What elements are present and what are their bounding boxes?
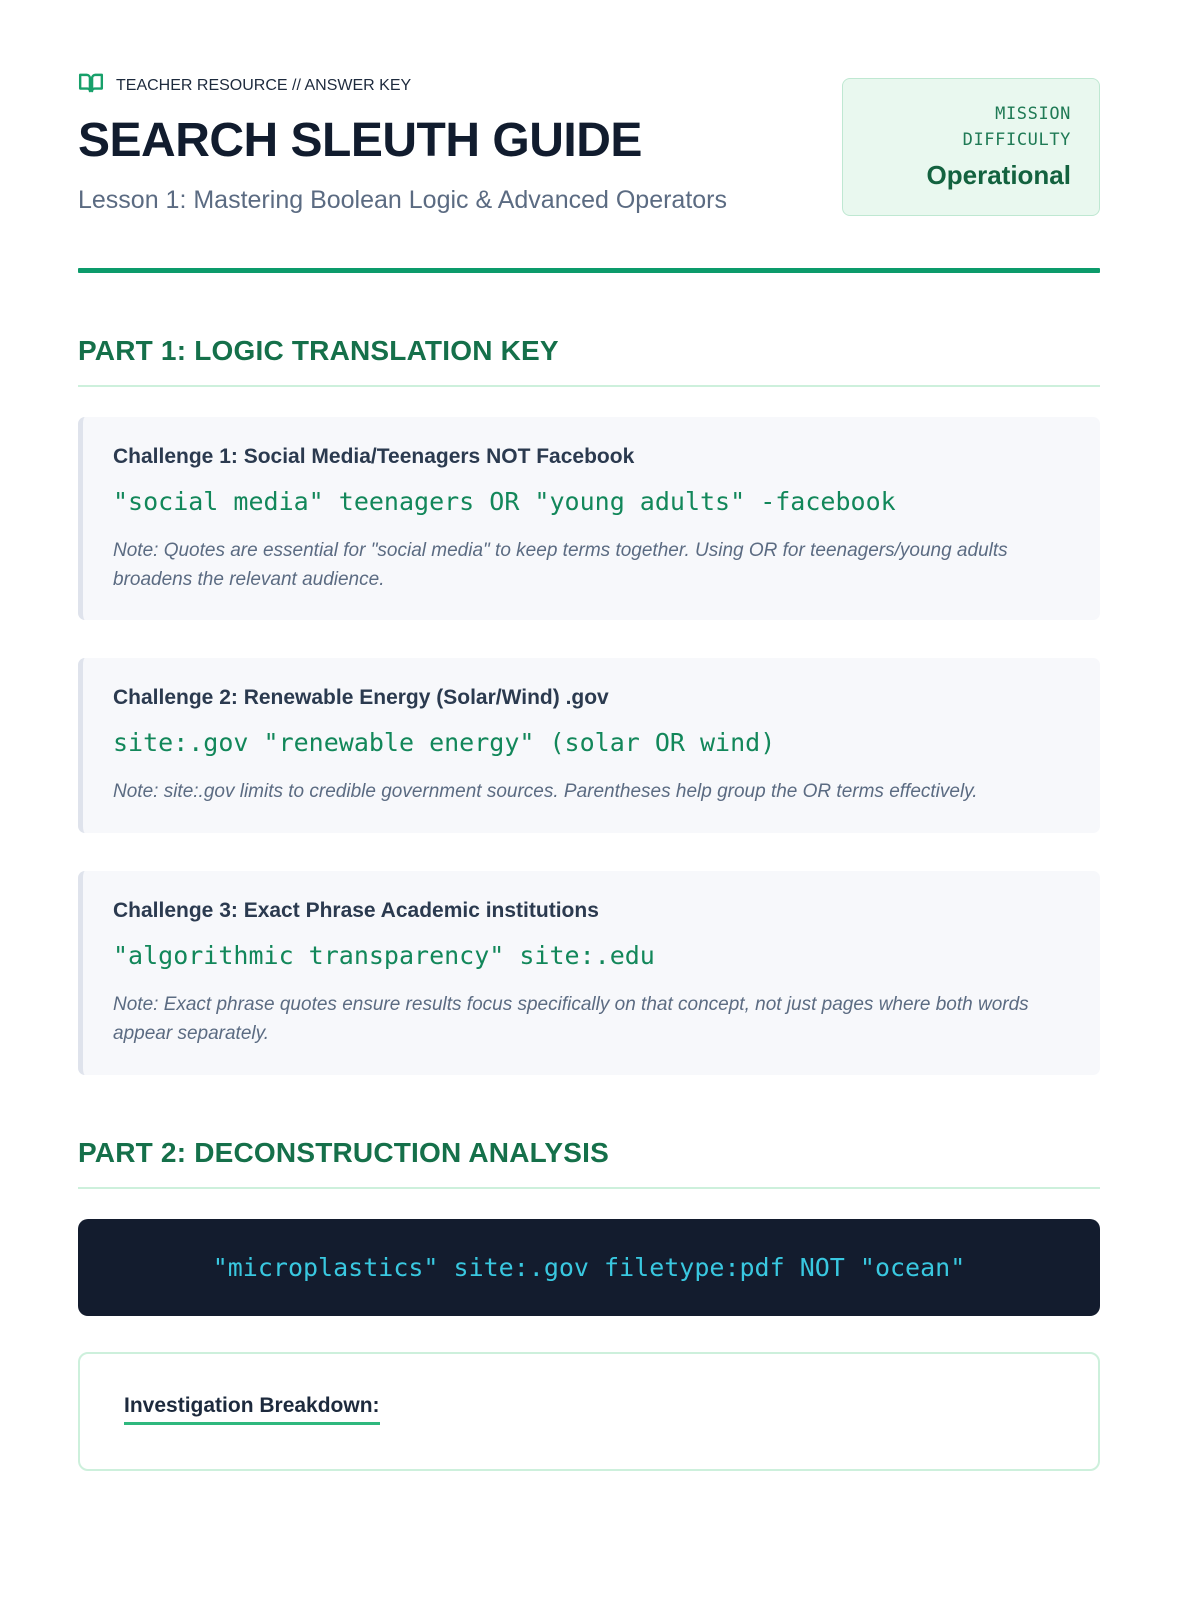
- deconstruction-code-block: "microplastics" site:.gov filetype:pdf N…: [78, 1219, 1100, 1316]
- part-2-title: PART 2: DECONSTRUCTION ANALYSIS: [78, 1137, 1100, 1169]
- eyebrow-label: TEACHER RESOURCE // ANSWER KEY: [116, 77, 411, 95]
- part-2-section: PART 2: DECONSTRUCTION ANALYSIS "micropl…: [78, 1137, 1100, 1471]
- page-subtitle: Lesson 1: Mastering Boolean Logic & Adva…: [78, 181, 778, 220]
- challenge-title: Challenge 2: Renewable Energy (Solar/Win…: [113, 686, 1070, 710]
- open-book-icon: [78, 70, 104, 101]
- part-1-section: PART 1: LOGIC TRANSLATION KEY Challenge …: [78, 335, 1100, 1075]
- challenge-card: Challenge 2: Renewable Energy (Solar/Win…: [78, 658, 1100, 832]
- challenge-title: Challenge 3: Exact Phrase Academic insti…: [113, 899, 1070, 923]
- page-header: TEACHER RESOURCE // ANSWER KEY SEARCH SL…: [78, 70, 1100, 220]
- eyebrow: TEACHER RESOURCE // ANSWER KEY: [78, 70, 778, 101]
- badge-value: Operational: [871, 160, 1071, 191]
- challenge-note: Note: Exact phrase quotes ensure results…: [113, 990, 1070, 1049]
- mission-difficulty-badge: MISSION DIFFICULTY Operational: [842, 78, 1100, 216]
- investigation-breakdown-title: Investigation Breakdown:: [124, 1394, 380, 1425]
- deconstruction-query: "microplastics" site:.gov filetype:pdf N…: [213, 1253, 966, 1282]
- page-title: SEARCH SLEUTH GUIDE: [78, 115, 778, 167]
- answer-key-page: TEACHER RESOURCE // ANSWER KEY SEARCH SL…: [0, 0, 1200, 1600]
- challenge-query: site:.gov "renewable energy" (solar OR w…: [113, 728, 1070, 757]
- part-1-underline: [78, 385, 1100, 387]
- challenge-card: Challenge 3: Exact Phrase Academic insti…: [78, 871, 1100, 1075]
- header-divider: [78, 268, 1100, 273]
- challenge-note: Note: site:.gov limits to credible gover…: [113, 777, 1070, 806]
- challenge-card: Challenge 1: Social Media/Teenagers NOT …: [78, 417, 1100, 621]
- part-1-title: PART 1: LOGIC TRANSLATION KEY: [78, 335, 1100, 367]
- challenge-query: "algorithmic transparency" site:.edu: [113, 941, 1070, 970]
- part-2-underline: [78, 1187, 1100, 1189]
- challenge-query: "social media" teenagers OR "young adult…: [113, 487, 1070, 516]
- investigation-breakdown-panel: Investigation Breakdown:: [78, 1352, 1100, 1471]
- challenge-note: Note: Quotes are essential for "social m…: [113, 536, 1070, 595]
- badge-label-line1: MISSION: [871, 101, 1071, 127]
- header-text-group: TEACHER RESOURCE // ANSWER KEY SEARCH SL…: [78, 70, 778, 220]
- badge-label-line2: DIFFICULTY: [871, 127, 1071, 153]
- challenge-title: Challenge 1: Social Media/Teenagers NOT …: [113, 445, 1070, 469]
